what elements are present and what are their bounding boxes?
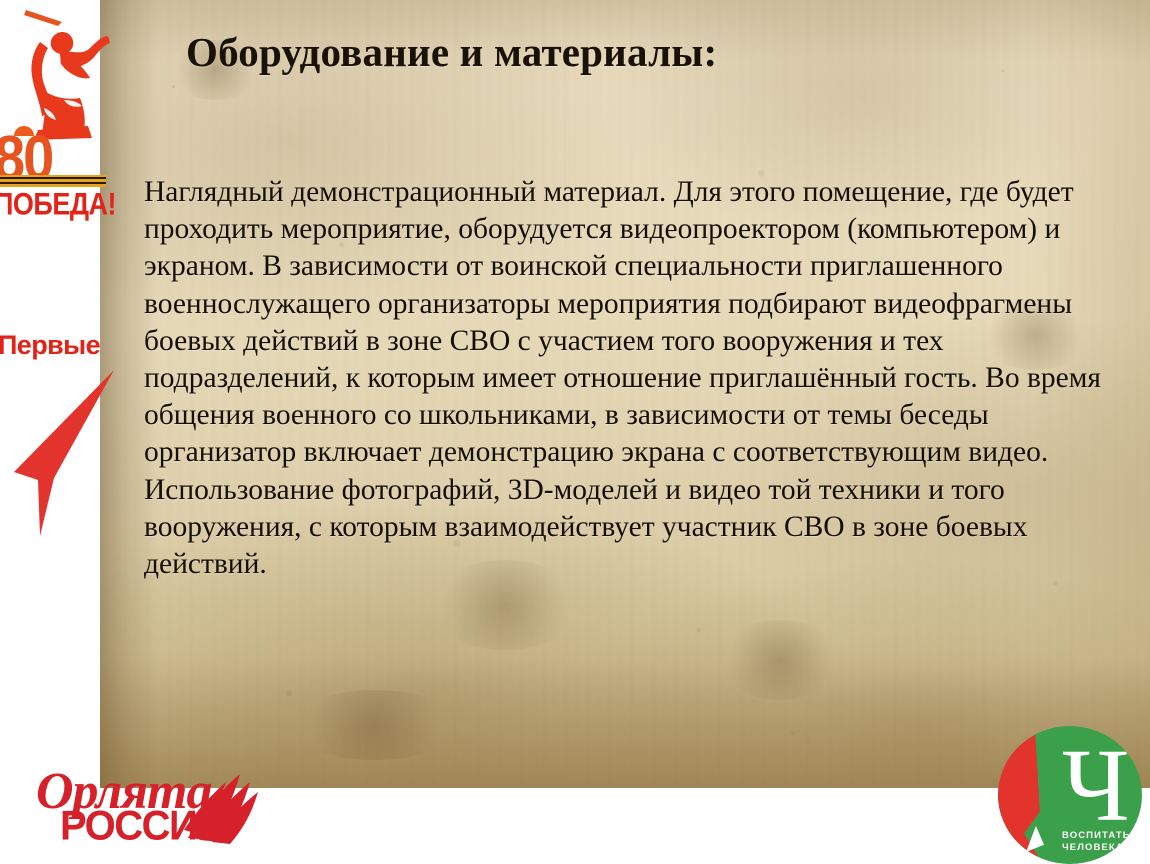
left-logo-rail: 80 ПОБЕДА! Первые Орлята РОССИИ — [0, 0, 100, 864]
orlyata-wing-icon — [182, 768, 262, 848]
vospitat-caption: ВОСПИТАТЬ ЧЕЛОВЕКА — [1062, 830, 1140, 854]
slide-root: Оборудование и материалы: Наглядный демо… — [0, 0, 1150, 864]
vospitat-caption-line2: ЧЕЛОВЕКА — [1062, 842, 1140, 854]
pervye-arrow-icon — [10, 368, 120, 538]
vospitat-caption-line1: ВОСПИТАТЬ — [1062, 830, 1140, 842]
victory-word: ПОБЕДА! — [0, 186, 116, 223]
page-title: Оборудование и материалы: — [186, 28, 966, 76]
orlyata-rossii-logo: Орлята РОССИИ — [14, 762, 254, 858]
vospitat-letter: Ч — [1062, 734, 1130, 838]
pervye-label: Первые — [0, 330, 100, 360]
slide-body-text: Наглядный демонстрационный материал. Для… — [144, 174, 1104, 583]
vospitat-cheloveka-logo: Ч ВОСПИТАТЬ ЧЕЛОВЕКА — [998, 726, 1142, 864]
victory-80-logo: 80 ПОБЕДА! — [0, 130, 112, 216]
pervye-logo: Первые — [0, 330, 116, 370]
